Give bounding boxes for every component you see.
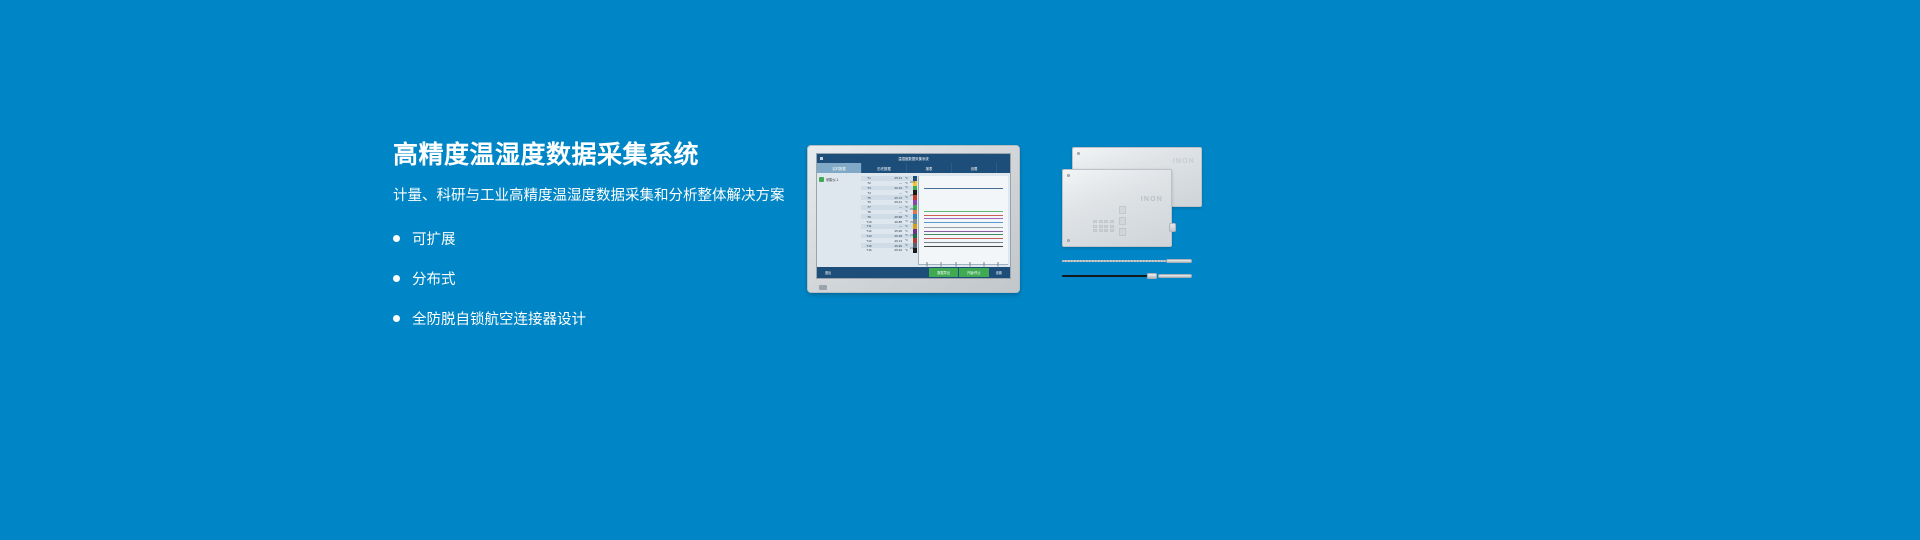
- chart-series-line: [924, 215, 1002, 216]
- exit-button[interactable]: 退出: [819, 269, 837, 276]
- x-axis-tick-label: 10:50: [997, 262, 1000, 268]
- screen-tab-bar: 实时数据 历史数据 报表 设置 帮助: [817, 163, 1010, 173]
- channel-unit: ℃: [905, 177, 913, 180]
- channel-name: T12: [861, 229, 877, 233]
- channel-name: T6: [861, 200, 877, 204]
- probe-ferrule: [1147, 273, 1157, 279]
- tab-realtime-data[interactable]: 实时数据: [817, 163, 862, 173]
- software-screen: 温湿度数据采集系统 实时数据 历史数据 报表 设置 帮助 采集仪-: [817, 154, 1010, 278]
- channel-value: 26.28: [877, 234, 905, 238]
- screen-body: 采集仪-1 T125.31℃T2---℃T326.19℃T4---℃T526.7…: [817, 173, 1010, 267]
- probe-cable: [1062, 260, 1166, 263]
- footer-button-group: 数据导出 开始/停止 设置: [929, 268, 1008, 277]
- feature-list: 可扩展 分布式 全防脱自锁航空连接器设计: [393, 226, 813, 332]
- list-item: 可扩展: [393, 226, 813, 252]
- channel-value: ---: [877, 181, 905, 185]
- channel-name: T13: [861, 234, 877, 238]
- channel-value: ---: [877, 224, 905, 228]
- export-data-button[interactable]: 数据导出: [929, 268, 958, 277]
- x-axis-tick-label: 10:20: [955, 262, 958, 268]
- brand-logo: INON: [1141, 196, 1163, 203]
- channel-unit: ℃: [905, 201, 913, 204]
- page-subtitle: 计量、科研与工业高精度温湿度数据采集和分析整体解决方案: [393, 187, 813, 206]
- feature-label: 可扩展: [412, 228, 456, 249]
- channel-unit: ℃: [905, 225, 913, 228]
- chart-series-line: [924, 231, 1002, 232]
- banner-content: 高精度温湿度数据采集系统 计量、科研与工业高精度温湿度数据采集和分析整体解决方案…: [0, 0, 1920, 540]
- channel-name: T9: [861, 215, 877, 219]
- channel-value: 26.13: [877, 239, 905, 243]
- channel-table: T125.31℃T2---℃T326.19℃T4---℃T526.72℃T626…: [861, 173, 917, 267]
- chart-series-line: [924, 227, 1002, 228]
- channel-value: 26.94: [877, 248, 905, 252]
- list-item: 全防脱自锁航空连接器设计: [393, 306, 813, 332]
- bullet-dot-icon: [393, 235, 400, 242]
- chart-series-line: [924, 246, 1002, 247]
- screw-icon: [1067, 174, 1070, 177]
- screw-icon: [1077, 152, 1080, 155]
- feature-label: 全防脱自锁航空连接器设计: [412, 308, 586, 329]
- trend-chart: 26.52625.52524.52410:0010:1010:2010:3010…: [918, 176, 1008, 265]
- chart-series-line: [924, 211, 1002, 212]
- screw-icon: [1067, 239, 1070, 242]
- y-axis-tick-label: 26.5: [910, 181, 915, 184]
- list-item: 分布式: [393, 266, 813, 292]
- channel-value: 26.98: [877, 215, 905, 219]
- channel-unit: ℃: [905, 210, 913, 213]
- channel-value: 26.90: [877, 244, 905, 248]
- monitor-screen-area: 温湿度数据采集系统 实时数据 历史数据 报表 设置 帮助 采集仪-: [816, 153, 1011, 279]
- probe-tip: [1166, 259, 1192, 263]
- channel-name: T15: [861, 244, 877, 248]
- hero-text-block: 高精度温湿度数据采集系统 计量、科研与工业高精度温湿度数据采集和分析整体解决方案…: [393, 140, 813, 346]
- channel-value: ---: [877, 191, 905, 195]
- channel-value: 26.41: [877, 200, 905, 204]
- channel-value: 26.72: [877, 196, 905, 200]
- channel-value: ---: [877, 205, 905, 209]
- y-axis-tick-label: 24: [910, 247, 913, 250]
- channel-unit: ℃: [905, 215, 913, 218]
- channel-name: T4: [861, 191, 877, 195]
- y-axis-tick-label: 25.5: [910, 208, 915, 211]
- channel-name: T7: [861, 205, 877, 209]
- y-axis-tick-label: 24.5: [910, 234, 915, 237]
- device-tree-node[interactable]: 采集仪-1: [819, 177, 859, 182]
- temperature-probe-braided: [1062, 259, 1192, 263]
- chart-series-line: [924, 234, 1002, 235]
- chart-series-line: [924, 238, 1002, 239]
- channel-name: T8: [861, 210, 877, 214]
- start-stop-button[interactable]: 开始/停止: [959, 268, 989, 277]
- window-menu-icon: [820, 157, 823, 160]
- chart-series-line: [924, 242, 1002, 243]
- data-logger-enclosure-front: INON: [1062, 169, 1172, 247]
- connector-blocks-icon: [1119, 206, 1126, 236]
- feature-label: 分布式: [412, 268, 456, 289]
- tab-history-data[interactable]: 历史数据: [862, 163, 907, 173]
- x-axis-tick-label: 10:40: [983, 262, 986, 268]
- table-row: T1626.94℃: [861, 248, 917, 253]
- channel-unit: ℃: [905, 186, 913, 189]
- channel-unit: ℃: [905, 239, 913, 242]
- temperature-probe-black: [1062, 274, 1192, 278]
- channel-name: T5: [861, 196, 877, 200]
- bullet-dot-icon: [393, 315, 400, 322]
- chart-series-line: [924, 218, 1002, 219]
- channel-value: ---: [877, 210, 905, 214]
- chart-series-line: [924, 188, 1002, 189]
- series-color-swatch: [913, 248, 917, 253]
- channel-value: 26.19: [877, 186, 905, 190]
- page-title: 高精度温湿度数据采集系统: [393, 140, 813, 170]
- screen-footer: 退出 数据导出 开始/停止 设置: [817, 267, 1010, 278]
- channel-name: T14: [861, 239, 877, 243]
- hardware-group: INON INON: [1062, 143, 1207, 293]
- channel-name: T16: [861, 248, 877, 252]
- x-axis-tick-label: 10:10: [940, 262, 943, 268]
- channel-name: T2: [861, 181, 877, 185]
- screen-titlebar: 温湿度数据采集系统: [817, 154, 1010, 163]
- tab-settings[interactable]: 设置: [952, 163, 997, 173]
- channel-unit: ℃: [905, 230, 913, 233]
- channel-value: 25.96: [877, 229, 905, 233]
- industrial-monitor: 温湿度数据采集系统 实时数据 历史数据 报表 设置 帮助 采集仪-: [807, 145, 1020, 293]
- device-name: 采集仪-1: [826, 177, 838, 182]
- channel-name: T10: [861, 220, 877, 224]
- y-axis-tick-label: 26: [910, 194, 913, 197]
- aviation-connector-icon: [1169, 223, 1176, 232]
- window-title: 温湿度数据采集系统: [898, 156, 929, 161]
- probe-cable: [1062, 275, 1147, 278]
- channel-value: 26.88: [877, 220, 905, 224]
- x-axis-tick-label: 10:00: [926, 262, 929, 268]
- device-tree-panel: 采集仪-1: [817, 173, 861, 267]
- settings-button[interactable]: 设置: [990, 268, 1008, 277]
- probe-tip: [1158, 274, 1192, 279]
- port-grid-icon: [1093, 220, 1114, 232]
- y-axis-tick-label: 25: [910, 221, 913, 224]
- tab-report[interactable]: 报表: [907, 163, 952, 173]
- chart-series-line: [924, 222, 1002, 223]
- brand-logo: INON: [1173, 158, 1195, 165]
- channel-name: T1: [861, 176, 877, 180]
- hero-banner: 高精度温湿度数据采集系统 计量、科研与工业高精度温湿度数据采集和分析整体解决方案…: [0, 0, 1920, 540]
- monitor-foot: [819, 285, 827, 290]
- tab-help[interactable]: 帮助: [997, 163, 1010, 173]
- status-led-icon: [819, 177, 824, 182]
- bullet-dot-icon: [393, 275, 400, 282]
- x-axis-tick-label: 10:30: [969, 262, 972, 268]
- channel-value: 25.31: [877, 176, 905, 180]
- channel-name: T3: [861, 186, 877, 190]
- channel-name: T11: [861, 224, 877, 228]
